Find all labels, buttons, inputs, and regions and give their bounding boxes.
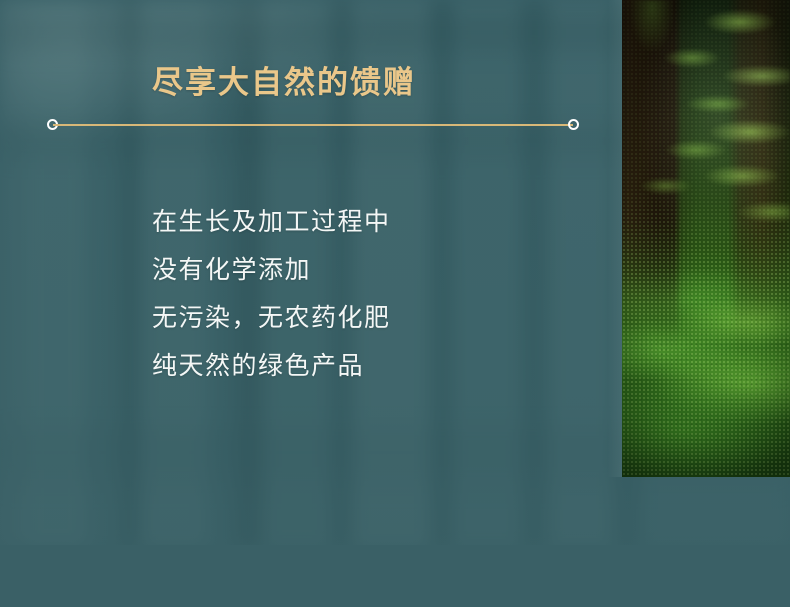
photo-vignette (622, 0, 790, 477)
body-line: 在生长及加工过程中 (152, 198, 572, 246)
divider-line (53, 124, 573, 126)
slide-title: 尽享大自然的馈赠 (152, 63, 416, 103)
background-bottom-band (0, 545, 790, 607)
title-divider (47, 119, 579, 131)
presentation-slide: 尽享大自然的馈赠 在生长及加工过程中 没有化学添加 无污染，无农药化肥 纯天然的… (0, 0, 790, 607)
forest-photo (622, 0, 790, 477)
body-line: 没有化学添加 (152, 246, 572, 294)
body-line: 无污染，无农药化肥 (152, 294, 572, 342)
body-text-block: 在生长及加工过程中 没有化学添加 无污染，无农药化肥 纯天然的绿色产品 (152, 198, 572, 390)
body-line: 纯天然的绿色产品 (152, 342, 572, 390)
ring-marker-right-icon (568, 119, 579, 130)
